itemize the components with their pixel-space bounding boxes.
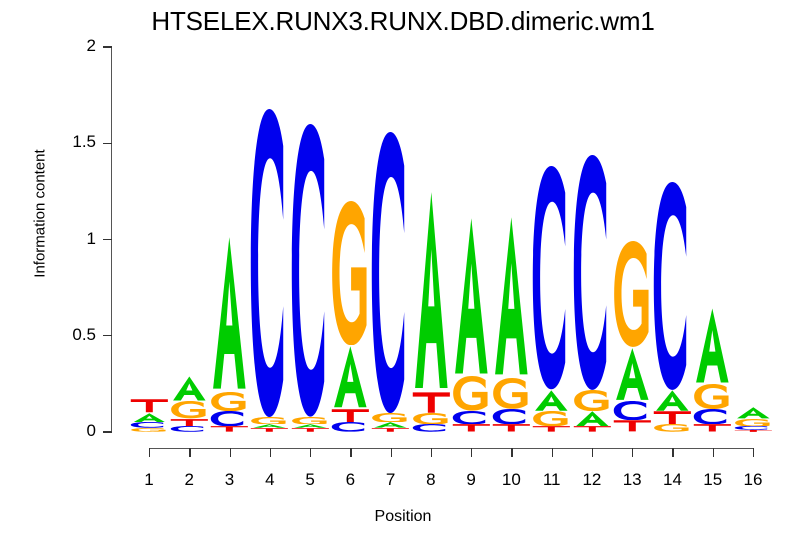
logo-letter-g [452, 376, 491, 411]
x-axis-tick [350, 448, 351, 457]
x-axis-tick [592, 448, 593, 457]
logo-letter-a [170, 376, 209, 401]
x-axis-tick [753, 448, 754, 457]
logo-stack [291, 47, 330, 432]
logo-letter-g [210, 392, 249, 411]
x-axis-tick-label: 9 [451, 470, 491, 490]
x-axis-tick-label: 5 [290, 470, 330, 490]
logo-letter-t [734, 430, 773, 432]
logo-letter-t [250, 428, 289, 432]
logo-stack [492, 47, 531, 432]
logo-letter-c [613, 401, 652, 420]
logo-letter-t [130, 399, 169, 412]
logo-letter-a [331, 345, 370, 409]
logo-letter-c [693, 409, 732, 424]
logo-letter-a [653, 390, 692, 411]
logo-letter-g [371, 413, 410, 423]
logo-letter-a [492, 214, 531, 378]
y-axis-tick-label: 1.5 [40, 132, 96, 152]
logo-letter-g [653, 424, 692, 432]
logo-letter-a [412, 188, 451, 392]
logo-letter-g [130, 428, 169, 432]
logo-letter-a [532, 390, 571, 411]
y-axis-tick-label: 2 [40, 36, 96, 56]
x-axis-tick-label: 14 [652, 470, 692, 490]
page-title: HTSELEX.RUNX3.RUNX.DBD.dimeric.wm1 [0, 6, 806, 37]
logo-letter-g [693, 384, 732, 409]
logo-letter-t [371, 428, 410, 432]
logo-letter-c [734, 426, 773, 430]
y-axis-tick-label: 1 [40, 229, 96, 249]
logo-stack [331, 47, 370, 432]
x-axis-tick [310, 448, 311, 457]
logo-letter-c [452, 411, 491, 424]
logo-letter-t [412, 392, 451, 413]
x-axis-tick [391, 448, 392, 457]
logo-letter-c [210, 411, 249, 426]
logo-letter-c [250, 109, 289, 417]
logo-letter-t [210, 426, 249, 432]
x-axis-tick-label: 15 [693, 470, 733, 490]
logo-letter-c [653, 182, 692, 390]
y-axis-tick [103, 143, 112, 144]
logo-letter-c [573, 155, 612, 390]
logo-letter-a [210, 234, 249, 392]
y-axis-tick-label: 0 [40, 421, 96, 441]
x-axis-tick [471, 448, 472, 457]
logo-letter-a [250, 424, 289, 428]
logo-stack [693, 47, 732, 432]
x-axis-tick-label: 8 [411, 470, 451, 490]
logo-letter-a [613, 347, 652, 401]
x-axis-tick [511, 448, 512, 457]
logo-letter-a [291, 424, 330, 428]
x-axis-tick-label: 2 [169, 470, 209, 490]
logo-letter-t [573, 426, 612, 432]
x-axis-tick [632, 448, 633, 457]
logo-letter-t [613, 420, 652, 432]
logo-stack [250, 47, 289, 432]
logo-letter-a [693, 307, 732, 384]
logo-stack [613, 47, 652, 432]
x-axis-tick [270, 448, 271, 457]
logo-letter-g [331, 201, 370, 345]
logo-letter-c [331, 422, 370, 432]
x-axis-tick-label: 13 [612, 470, 652, 490]
logo-letter-c [130, 422, 169, 428]
logo-stack [130, 47, 169, 432]
x-axis-tick [230, 448, 231, 457]
x-axis-tick-label: 16 [733, 470, 773, 490]
x-axis-label: Position [0, 508, 806, 526]
x-axis-line [149, 448, 753, 449]
logo-letter-t [170, 419, 209, 427]
x-axis-tick-label: 4 [250, 470, 290, 490]
logo-letter-a [371, 422, 410, 428]
logo-stack [573, 47, 612, 432]
x-axis-tick [552, 448, 553, 457]
logo-stack [653, 47, 692, 432]
logo-letter-c [532, 166, 571, 389]
logo-letter-a [452, 215, 491, 377]
logo-stack [371, 47, 410, 432]
x-axis-tick-label: 3 [210, 470, 250, 490]
logo-letter-g [613, 241, 652, 347]
sequence-logo-plot: HTSELEX.RUNX3.RUNX.DBD.dimeric.wm1 Infor… [0, 0, 806, 559]
x-axis-tick-label: 6 [330, 470, 370, 490]
logo-stack [452, 47, 491, 432]
logo-letter-c [291, 124, 330, 417]
logo-letter-c [492, 409, 531, 424]
x-axis-tick-label: 10 [491, 470, 531, 490]
logo-letter-c [412, 424, 451, 432]
logo-letter-t [492, 424, 531, 432]
y-axis-tick-label: 0.5 [40, 325, 96, 345]
x-axis-tick [431, 448, 432, 457]
logo-letter-g [170, 401, 209, 418]
x-axis-tick-label: 11 [532, 470, 572, 490]
y-axis-tick [103, 46, 112, 47]
y-axis-tick [103, 335, 112, 336]
logo-letter-t [291, 428, 330, 432]
logo-letter-t [331, 409, 370, 422]
logo-stack [412, 47, 451, 432]
logo-letter-g [492, 378, 531, 409]
y-axis-tick [103, 431, 112, 432]
logo-letter-g [734, 419, 773, 427]
logo-letter-t [452, 424, 491, 432]
logo-letter-t [532, 426, 571, 432]
x-axis-tick [713, 448, 714, 457]
logo-stack [210, 47, 249, 432]
logo-letter-a [734, 407, 773, 419]
x-axis-tick [672, 448, 673, 457]
logo-letter-g [250, 417, 289, 425]
x-axis-tick-label: 12 [572, 470, 612, 490]
x-axis-tick-label: 7 [371, 470, 411, 490]
x-axis-tick [189, 448, 190, 457]
logo-letter-c [170, 426, 209, 432]
logo-letter-g [412, 413, 451, 425]
logo-letter-t [653, 411, 692, 424]
logo-letter-a [573, 411, 612, 426]
logo-stack [734, 47, 773, 432]
x-axis-tick-label: 1 [129, 470, 169, 490]
logo-letter-g [573, 390, 612, 411]
logo-letter-g [291, 417, 330, 425]
logo-stack [170, 47, 209, 432]
x-axis-tick [149, 448, 150, 457]
y-axis-tick [103, 239, 112, 240]
logo-letter-t [693, 424, 732, 432]
logo-letter-c [371, 132, 410, 413]
logo-letter-g [532, 411, 571, 426]
logo-stack [532, 47, 571, 432]
logo-letter-a [130, 413, 169, 423]
